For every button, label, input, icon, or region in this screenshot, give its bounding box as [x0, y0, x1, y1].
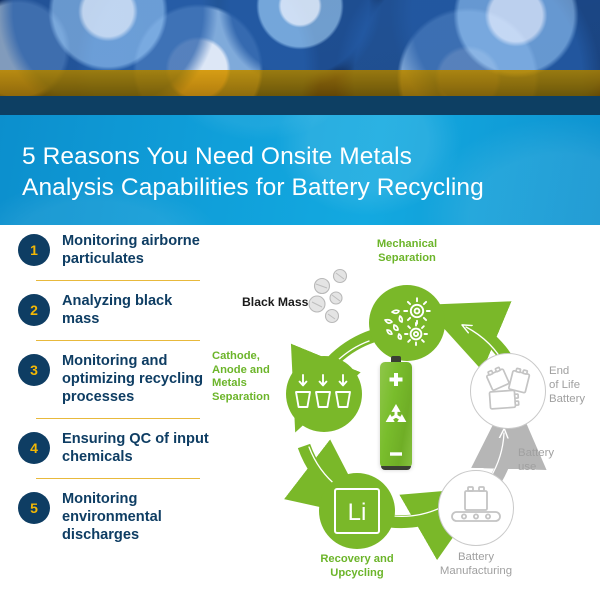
used-batteries-icon	[480, 366, 536, 416]
node-battery-manufacturing[interactable]	[438, 470, 514, 546]
center-recycling-battery-icon	[380, 356, 412, 468]
battery-base	[381, 466, 411, 470]
list-item-label: Monitoring environmental discharges	[62, 490, 212, 545]
list-item-label: Monitoring airborne particulates	[62, 232, 212, 269]
list-item-number: 5	[18, 492, 50, 524]
list-item[interactable]: 2 Analyzing black mass	[0, 292, 218, 329]
page-title-line-2: Analysis Capabilities for Battery Recycl…	[22, 172, 582, 203]
list-item[interactable]: 1 Monitoring airborne particulates	[0, 232, 218, 269]
cycle-arcs	[228, 228, 600, 600]
label-end-of-life-battery: End of Life Battery	[549, 364, 600, 406]
hero-banner-image	[0, 0, 600, 96]
lithium-icon: Li	[332, 486, 382, 536]
label-line: of Life	[549, 378, 600, 392]
node-mechanical-separation[interactable]	[369, 285, 445, 361]
list-item[interactable]: 4 Ensuring QC of input chemicals	[0, 430, 218, 467]
list-item-number: 4	[18, 432, 50, 464]
navy-divider-bar	[0, 96, 600, 115]
node-cathode-anode-metals-separation[interactable]	[286, 356, 362, 432]
label-line: Recovery and	[305, 553, 409, 567]
label-line: Mechanical	[347, 238, 467, 252]
label-black-mass: Black Mass	[242, 296, 312, 310]
list-item-label: Monitoring and optimizing recycling proc…	[62, 352, 212, 407]
list-item-label: Ensuring QC of input chemicals	[62, 430, 212, 467]
battery-body	[380, 362, 412, 468]
label-battery-use: Battery use	[518, 446, 590, 474]
label-line: Separation	[347, 252, 467, 266]
page-title: 5 Reasons You Need Onsite Metals Analysi…	[22, 141, 582, 203]
label-line: Manufacturing	[424, 564, 528, 578]
label-line: Separation	[212, 391, 284, 405]
svg-text:Li: Li	[348, 499, 367, 526]
label-battery-manufacturing: Battery Manufacturing	[424, 550, 528, 578]
list-divider	[36, 280, 200, 281]
page-title-line-1: 5 Reasons You Need Onsite Metals	[22, 141, 582, 172]
label-line: use	[518, 460, 590, 474]
battery-recycling-cycle-diagram: Mechanical Separation Cathode, Anode and…	[228, 228, 600, 600]
separation-funnels-icon	[294, 372, 354, 416]
label-mechanical-separation: Mechanical Separation	[347, 238, 467, 265]
list-item-number: 3	[18, 354, 50, 386]
list-item-number: 2	[18, 294, 50, 326]
conveyor-battery-icon	[448, 485, 504, 531]
title-band: 5 Reasons You Need Onsite Metals Analysi…	[0, 115, 600, 225]
list-divider	[36, 418, 200, 419]
label-line: Upcycling	[305, 567, 409, 581]
list-divider	[36, 478, 200, 479]
reasons-list: 1 Monitoring airborne particulates 2 Ana…	[0, 232, 218, 545]
black-mass-particles-icon	[309, 270, 347, 323]
node-recovery-upcycling[interactable]: Li	[319, 473, 395, 549]
node-end-of-life-battery[interactable]	[470, 353, 546, 429]
label-line: Cathode,	[212, 350, 284, 364]
label-cathode-anode-metals-separation: Cathode, Anode and Metals Separation	[212, 350, 284, 404]
list-item[interactable]: 5 Monitoring environmental discharges	[0, 490, 218, 545]
list-divider	[36, 340, 200, 341]
label-line: Metals	[212, 377, 284, 391]
list-item[interactable]: 3 Monitoring and optimizing recycling pr…	[0, 352, 218, 407]
list-item-number: 1	[18, 234, 50, 266]
label-line: Battery	[518, 446, 590, 460]
battery-symbols	[380, 362, 412, 468]
label-line: Anode and	[212, 364, 284, 378]
list-item-label: Analyzing black mass	[62, 292, 212, 329]
label-recovery-upcycling: Recovery and Upcycling	[305, 553, 409, 580]
gears-icon	[376, 296, 438, 350]
label-line: Battery	[549, 392, 600, 406]
infographic-page: 5 Reasons You Need Onsite Metals Analysi…	[0, 0, 600, 600]
label-line: Battery	[424, 550, 528, 564]
label-line: End	[549, 364, 600, 378]
gold-overlay-tint	[0, 70, 600, 96]
